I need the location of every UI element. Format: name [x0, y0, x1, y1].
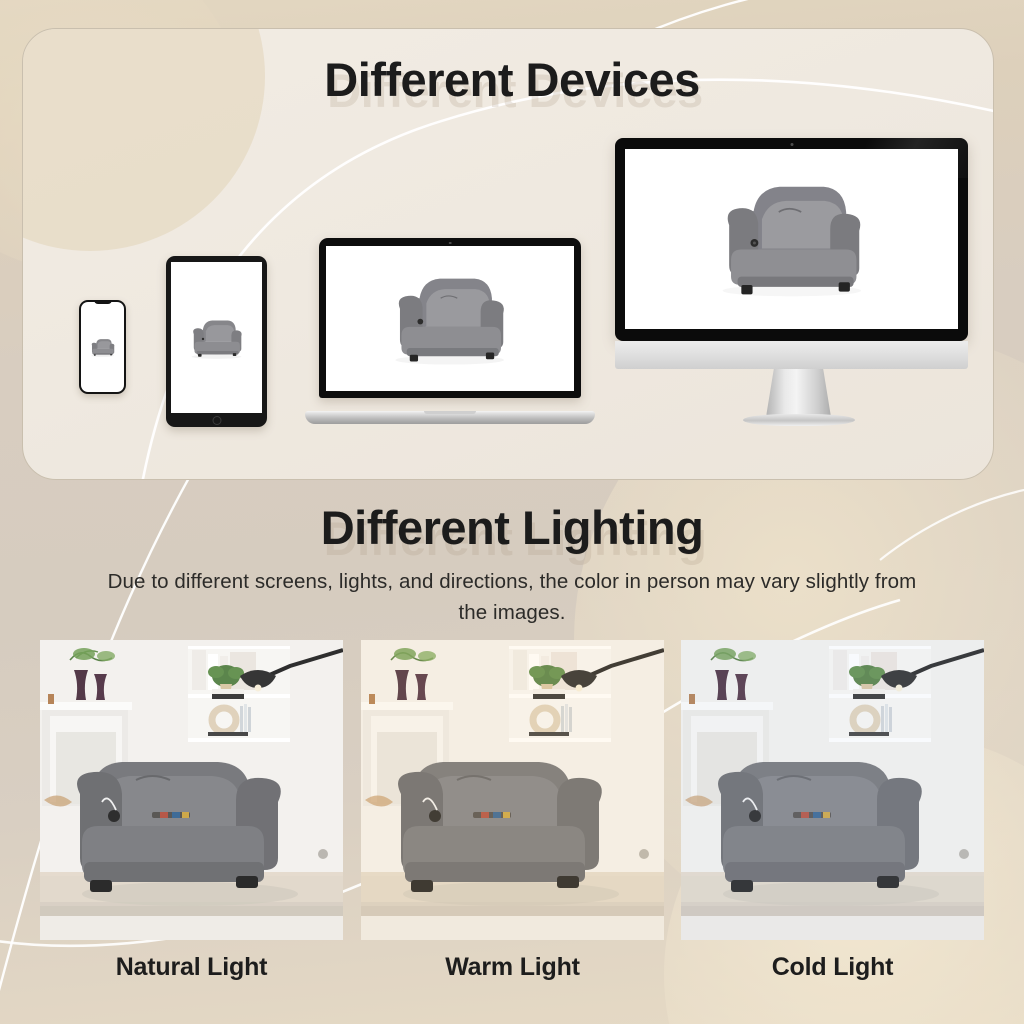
lighting-label-warm: Warm Light: [361, 953, 664, 982]
armchair-illustration: [353, 262, 546, 375]
tablet-home-button[interactable]: [212, 416, 221, 425]
laptop-icon: [319, 238, 581, 398]
desktop-monitor-icon: [615, 138, 968, 341]
laptop-screen: [326, 246, 574, 391]
lighting-panel-warm: [361, 640, 664, 940]
device-laptop: [305, 238, 595, 424]
lighting-section-subtitle: Due to different screens, lights, and di…: [96, 566, 928, 628]
lighting-panel-natural: [40, 640, 343, 940]
monitor-camera: [790, 143, 793, 146]
lighting-label-cold: Cold Light: [681, 953, 984, 982]
monitor-stand-neck: [766, 369, 831, 417]
laptop-camera: [449, 242, 452, 245]
lighting-tint-cold: [681, 640, 984, 940]
phone-notch: [94, 300, 112, 304]
lighting-tint-warm: [361, 640, 664, 940]
monitor-stand-base: [743, 414, 855, 426]
tablet-screen: [171, 262, 262, 413]
monitor-screen-glare: [818, 138, 968, 178]
laptop-base: [305, 411, 595, 424]
armchair-illustration: [662, 169, 922, 309]
lighting-label-natural: Natural Light: [40, 953, 343, 982]
device-phone: [79, 300, 126, 394]
product-photo-tablet: [171, 262, 262, 413]
phone-screen: [81, 302, 124, 392]
laptop-trackpad-notch: [424, 411, 476, 414]
tablet-icon: [166, 256, 267, 427]
lighting-panel-cold: [681, 640, 984, 940]
device-monitor: [615, 138, 982, 448]
lighting-section-title: Different Lighting: [0, 500, 1024, 555]
armchair-illustration: [181, 279, 252, 397]
monitor-chin: [615, 341, 968, 369]
product-photo-laptop: [326, 246, 574, 391]
product-photo-phone: [81, 302, 124, 392]
device-tablet: [166, 256, 267, 427]
devices-section-title: Different Devices: [0, 52, 1024, 107]
smartphone-icon: [79, 300, 126, 394]
lighting-tint-natural: [40, 640, 343, 940]
armchair-illustration: [86, 312, 119, 382]
